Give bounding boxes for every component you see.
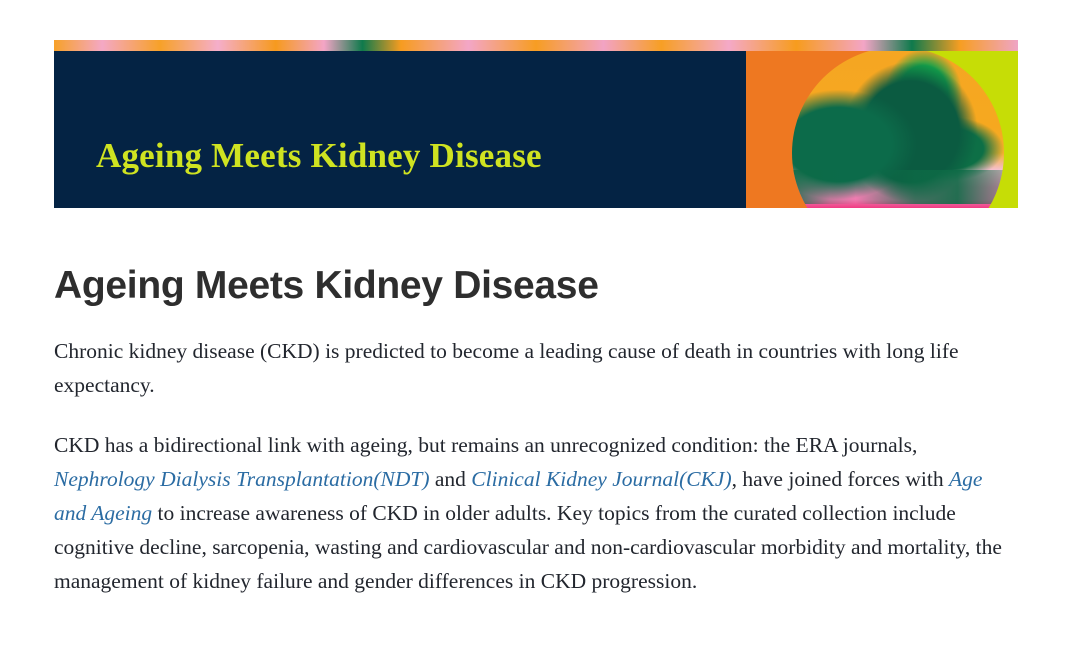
article-paragraph-intro: Chronic kidney disease (CKD) is predicte…: [54, 334, 1020, 402]
article-content: Ageing Meets Kidney Disease Chronic kidn…: [54, 262, 1020, 598]
article-hero-banner: Ageing Meets Kidney Disease: [54, 40, 1018, 208]
banner-top-paint-strip: [54, 40, 1018, 51]
article-paragraph-detail: CKD has a bidirectional link with ageing…: [54, 428, 1020, 598]
article-page: Ageing Meets Kidney Disease Ageing Meets…: [0, 0, 1072, 668]
journal-link[interactable]: Nephrology Dialysis Transplantation(NDT): [54, 467, 429, 491]
page-title: Ageing Meets Kidney Disease: [54, 262, 1020, 310]
banner-title: Ageing Meets Kidney Disease: [96, 136, 542, 176]
journal-link[interactable]: Clinical Kidney Journal(CKJ): [471, 467, 731, 491]
banner-navy-block: [54, 40, 746, 208]
